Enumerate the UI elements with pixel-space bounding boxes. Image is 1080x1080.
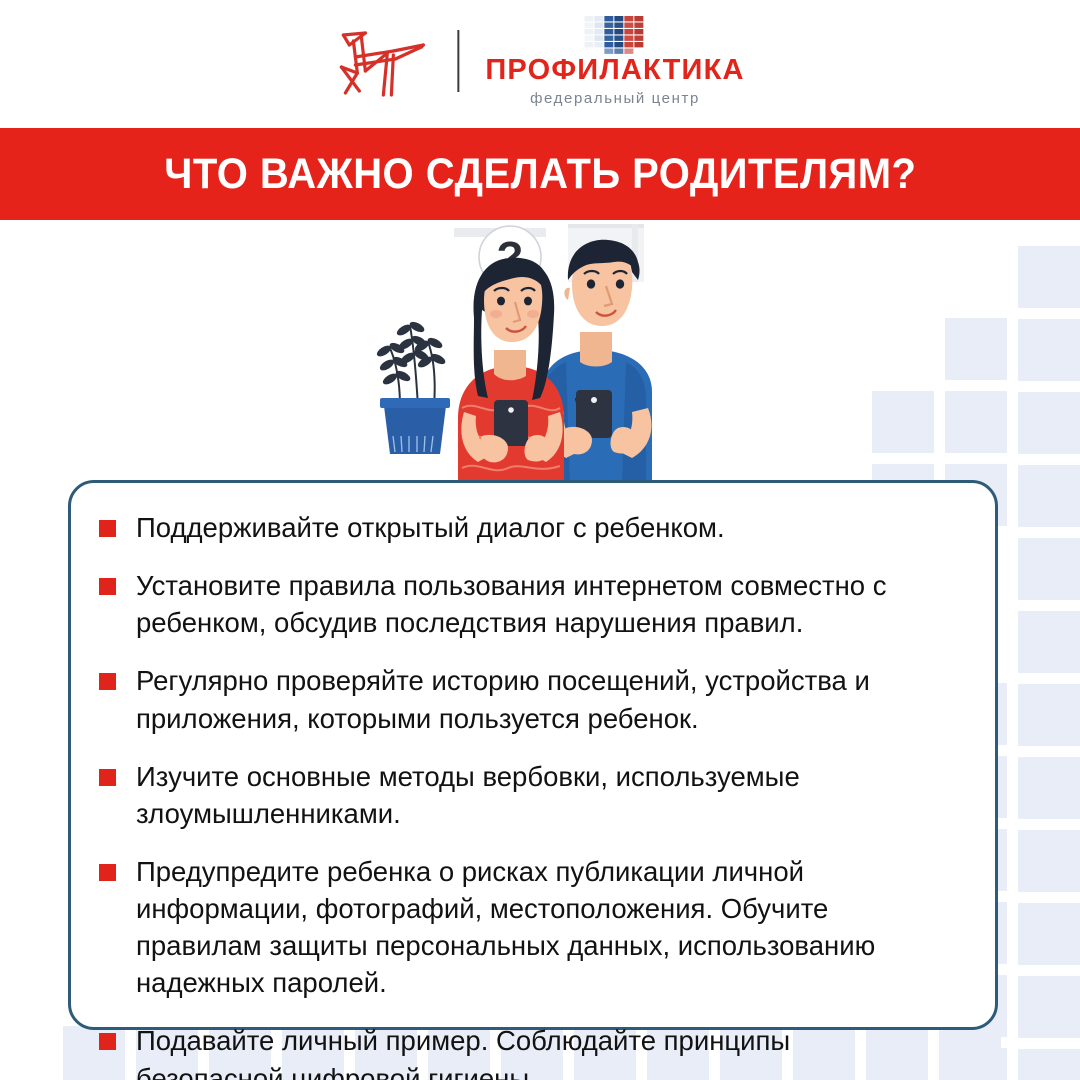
grid-squares-flag-icon xyxy=(584,16,646,54)
background-square xyxy=(1018,611,1080,673)
brand-header: ПРОФИЛАКТИКА федеральный центр xyxy=(0,0,1080,128)
list-item: Установите правила пользования интернето… xyxy=(99,567,955,641)
background-square xyxy=(1018,757,1080,819)
background-square xyxy=(945,318,1007,380)
tip-text: Поддерживайте открытый диалог с ребенком… xyxy=(136,509,725,546)
couple-with-smartphones-illustration: ? xyxy=(370,222,700,484)
title-banner: ЧТО ВАЖНО СДЕЛАТЬ РОДИТЕЛЯМ? xyxy=(0,128,1080,220)
background-square xyxy=(1018,246,1080,308)
tip-text: Установите правила пользования интернето… xyxy=(136,567,936,641)
background-square xyxy=(1018,903,1080,965)
brand-header-inner: ПРОФИЛАКТИКА федеральный центр xyxy=(335,16,744,106)
background-square xyxy=(1018,684,1080,746)
list-item: Регулярно проверяйте историю посещений, … xyxy=(99,662,955,736)
brand-subtitle: федеральный центр xyxy=(530,91,700,106)
background-square xyxy=(1018,538,1080,600)
vertical-divider-icon xyxy=(457,30,459,92)
page-title: ЧТО ВАЖНО СДЕЛАТЬ РОДИТЕЛЯМ? xyxy=(164,150,916,199)
bullet-square-icon xyxy=(99,864,116,881)
tip-text: Изучите основные методы вербовки, исполь… xyxy=(136,758,936,832)
tip-text: Подавайте личный пример. Соблюдайте прин… xyxy=(136,1022,936,1080)
horse-line-art-icon xyxy=(335,21,431,101)
tips-card: Поддерживайте открытый диалог с ребенком… xyxy=(68,480,998,1030)
bullet-square-icon xyxy=(99,520,116,537)
background-square xyxy=(1018,392,1080,454)
background-square xyxy=(1018,465,1080,527)
list-item: Подавайте личный пример. Соблюдайте прин… xyxy=(99,1022,955,1080)
list-item: Поддерживайте открытый диалог с ребенком… xyxy=(99,509,955,546)
bullet-square-icon xyxy=(99,673,116,690)
tip-text: Предупредите ребенка о рисках публикации… xyxy=(136,853,936,1002)
tip-text: Регулярно проверяйте историю посещений, … xyxy=(136,662,936,736)
list-item: Изучите основные методы вербовки, исполь… xyxy=(99,758,955,832)
background-square xyxy=(1018,830,1080,892)
bullet-square-icon xyxy=(99,578,116,595)
background-square xyxy=(872,391,934,453)
brand-name: ПРОФИЛАКТИКА xyxy=(485,56,744,85)
brand-block: ПРОФИЛАКТИКА федеральный центр xyxy=(485,16,744,106)
infographic-poster: ПРОФИЛАКТИКА федеральный центр ЧТО ВАЖНО… xyxy=(0,0,1080,1080)
list-item: Предупредите ребенка о рисках публикации… xyxy=(99,853,955,1002)
bullet-square-icon xyxy=(99,769,116,786)
background-square xyxy=(1018,1049,1080,1080)
bullet-square-icon xyxy=(99,1033,116,1050)
tips-list: Поддерживайте открытый диалог с ребенком… xyxy=(99,509,955,1080)
background-square xyxy=(945,391,1007,453)
background-square xyxy=(1018,319,1080,381)
background-square xyxy=(1018,976,1080,1038)
